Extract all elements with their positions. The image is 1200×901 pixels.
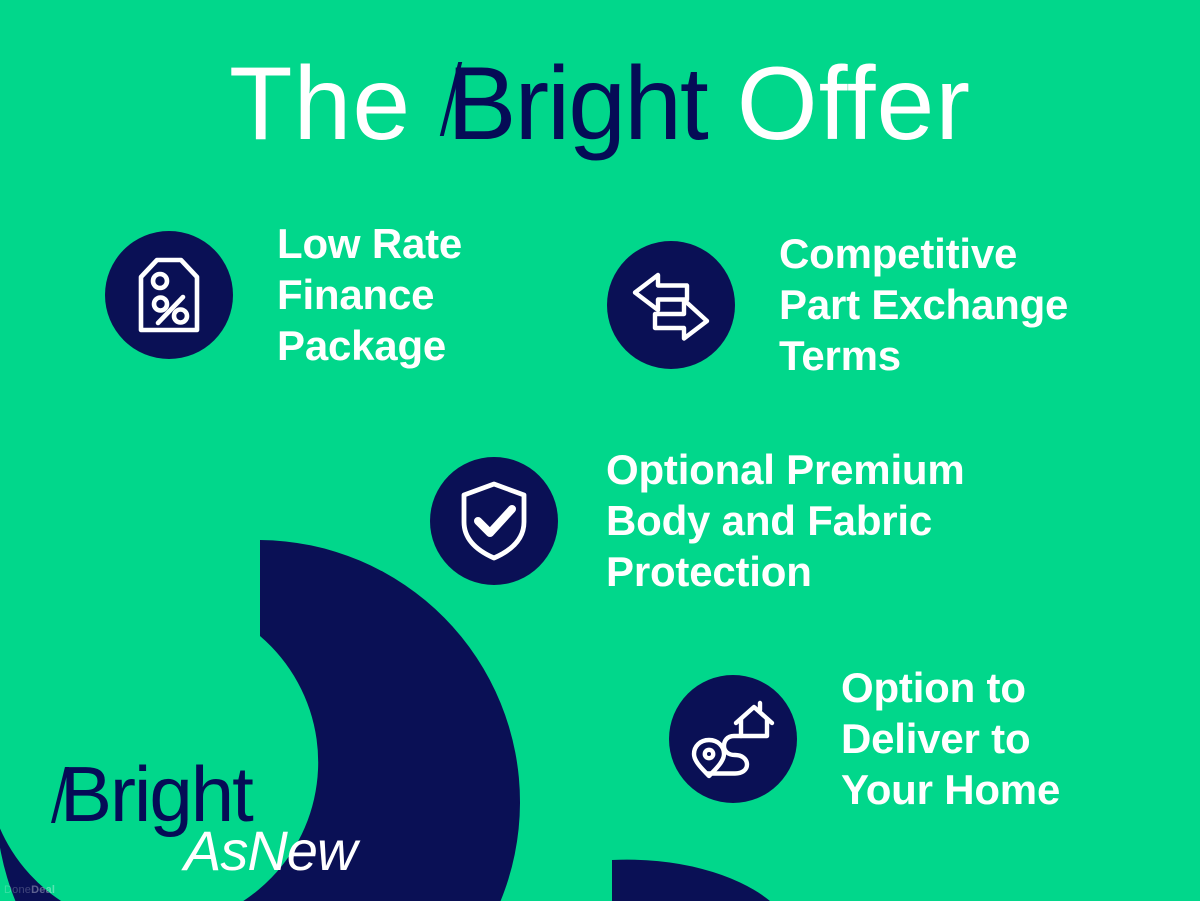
page-title-brand-text: Bright: [447, 46, 707, 162]
feature-line: Option to: [841, 662, 1060, 713]
feature-text-finance: Low Rate Finance Package: [277, 218, 462, 371]
feature-line: Finance: [277, 269, 462, 320]
feature-text-part-exchange: Competitive Part Exchange Terms: [779, 228, 1068, 381]
feature-line: Optional Premium: [606, 444, 965, 495]
feature-line: Your Home: [841, 764, 1060, 815]
feature-line: Body and Fabric: [606, 495, 965, 546]
watermark-suffix: Deal: [31, 884, 55, 896]
page-title-brand: Bright: [441, 46, 707, 162]
feature-line: Protection: [606, 546, 965, 597]
feature-line: Part Exchange: [779, 279, 1068, 330]
page-title: The Bright Offer: [0, 52, 1200, 156]
page-title-prefix: The: [229, 46, 411, 162]
brand-logo: Bright AsNew: [52, 755, 382, 885]
exchange-arrows-icon: [630, 268, 712, 342]
watermark-prefix: Done: [4, 884, 31, 896]
feature-line: Deliver to: [841, 713, 1060, 764]
feature-item-protection: Optional Premium Body and Fabric Protect…: [430, 444, 965, 597]
feature-item-finance: Low Rate Finance Package: [105, 218, 462, 371]
feature-item-delivery: Option to Deliver to Your Home: [669, 662, 1060, 815]
feature-line: Low Rate: [277, 218, 462, 269]
feature-line: Competitive: [779, 228, 1068, 279]
promo-slide: The Bright Offer Low Rate Finance Packag…: [0, 0, 1200, 901]
page-title-suffix: Offer: [737, 46, 971, 162]
feature-text-protection: Optional Premium Body and Fabric Protect…: [606, 444, 965, 597]
watermark: DoneDeal: [4, 884, 55, 896]
map-pin-route-house-icon: [690, 698, 776, 780]
feature-text-delivery: Option to Deliver to Your Home: [841, 662, 1060, 815]
shield-check-icon: [458, 480, 530, 562]
feature-icon-badge: [105, 231, 233, 359]
decorative-curve-shape: [612, 860, 770, 901]
feature-icon-badge: [669, 675, 797, 803]
price-tag-percent-icon: [134, 256, 204, 334]
feature-icon-badge: [607, 241, 735, 369]
feature-icon-badge: [430, 457, 558, 585]
brand-logo-secondary: AsNew: [184, 823, 356, 879]
feature-line: Package: [277, 320, 462, 371]
feature-item-part-exchange: Competitive Part Exchange Terms: [607, 228, 1068, 381]
feature-line: Terms: [779, 330, 1068, 381]
